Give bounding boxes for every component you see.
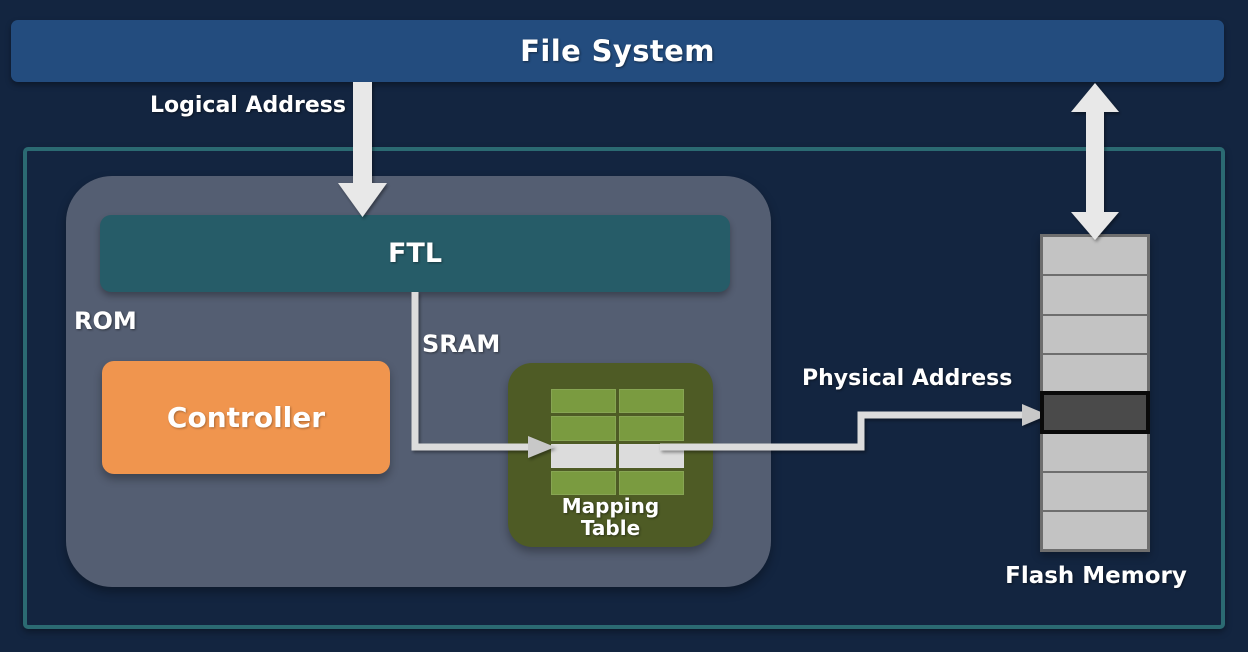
flash-memory-cell	[1043, 237, 1147, 274]
flash-memory-cell	[1043, 433, 1147, 470]
flash-memory-cell	[1043, 316, 1147, 353]
mapping-table-cell-highlighted	[551, 444, 616, 468]
flash-memory-cell	[1043, 473, 1147, 510]
ftl-label: FTL	[388, 238, 442, 269]
physical-address-label: Physical Address	[802, 366, 1012, 391]
mapping-table-cell	[551, 416, 616, 440]
controller-block[interactable]: Controller	[102, 361, 390, 474]
mapping-table-caption: Mapping Table	[508, 495, 713, 540]
flash-memory-label: Flash Memory	[960, 563, 1232, 589]
mapping-table-cell	[551, 471, 616, 495]
file-system-label: File System	[520, 34, 715, 68]
mapping-table-cell	[619, 416, 684, 440]
ftl-block[interactable]: FTL	[100, 215, 730, 292]
logical-address-label: Logical Address	[150, 93, 346, 118]
mapping-table-block[interactable]: Mapping Table	[508, 363, 713, 547]
diagram-canvas: File System FTL ROM Controller SRAM Mapp…	[0, 0, 1248, 652]
flash-memory-cell	[1043, 276, 1147, 313]
sram-label: SRAM	[422, 330, 500, 358]
mapping-table-cell	[619, 471, 684, 495]
file-system-block[interactable]: File System	[11, 20, 1224, 82]
rom-label: ROM	[74, 307, 137, 335]
mapping-table-caption-line1: Mapping	[508, 495, 713, 517]
mapping-table-grid	[551, 389, 684, 495]
mapping-table-cell	[619, 389, 684, 413]
flash-memory-cell-active	[1043, 394, 1147, 431]
flash-memory-cell	[1043, 355, 1147, 392]
mapping-table-caption-line2: Table	[508, 517, 713, 539]
mapping-table-cell-highlighted	[619, 444, 684, 468]
flash-memory-block[interactable]	[1040, 234, 1150, 552]
controller-label: Controller	[167, 401, 325, 434]
mapping-table-cell	[551, 389, 616, 413]
flash-memory-cell	[1043, 512, 1147, 549]
